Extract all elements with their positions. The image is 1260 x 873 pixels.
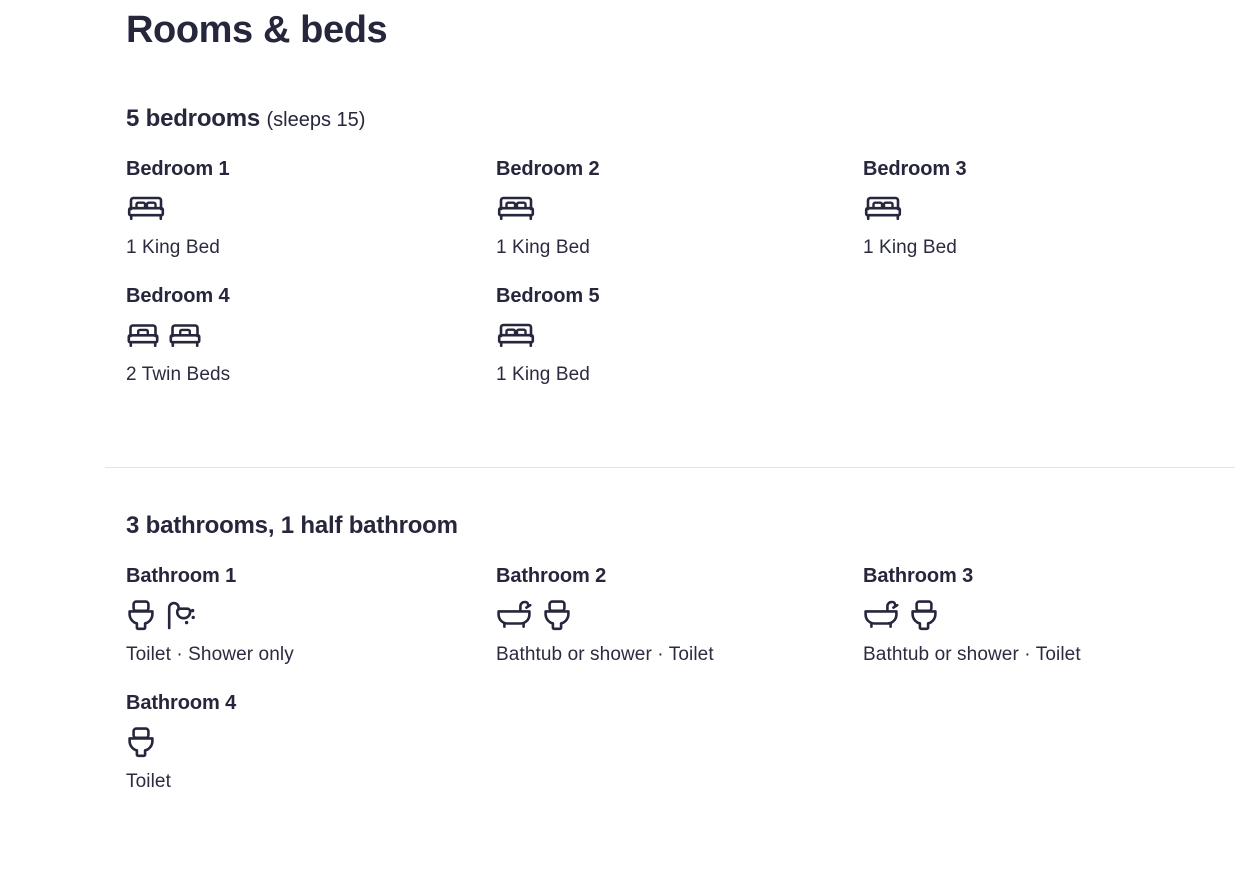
- bathroom-description: Bathtub or shower · Toilet: [496, 642, 863, 668]
- bathroom-name: Bathroom 2: [496, 563, 863, 589]
- bathtub-icon: [496, 598, 534, 632]
- page-title: Rooms & beds: [126, 8, 387, 54]
- bedroom-name: Bedroom 4: [126, 283, 496, 309]
- king-bed-icon: [126, 192, 166, 224]
- bedroom-description: 2 Twin Beds: [126, 362, 496, 388]
- room-icon-row: [496, 188, 863, 228]
- toilet-icon: [126, 725, 156, 759]
- bedrooms-heading: 5 bedrooms (sleeps 15): [126, 104, 1260, 134]
- room-icon-row: [496, 315, 863, 355]
- bedroom-name: Bedroom 3: [863, 156, 1243, 182]
- bathroom-description: Toilet: [126, 769, 496, 795]
- king-bed-icon: [863, 192, 903, 224]
- room-card: Bedroom 11 King Bed: [126, 156, 496, 271]
- bathroom-name: Bathroom 1: [126, 563, 496, 589]
- section-divider: [105, 467, 1235, 468]
- toilet-icon: [909, 598, 939, 632]
- bedrooms-section: 5 bedrooms (sleeps 15) Bedroom 11 King B…: [0, 104, 1260, 397]
- bathroom-name: Bathroom 4: [126, 690, 496, 716]
- king-bed-icon: [496, 319, 536, 351]
- bedrooms-grid: Bedroom 11 King BedBedroom 21 King BedBe…: [126, 156, 1260, 397]
- room-card: Bathroom 2Bathtub or shower · Toilet: [496, 563, 863, 678]
- room-icon-row: [126, 595, 496, 635]
- room-icon-row: [863, 595, 1243, 635]
- bedroom-description: 1 King Bed: [863, 235, 1243, 261]
- toilet-icon: [126, 598, 156, 632]
- bedrooms-heading-main: 5 bedrooms: [126, 105, 260, 132]
- room-card: Bedroom 21 King Bed: [496, 156, 863, 271]
- bedroom-name: Bedroom 1: [126, 156, 496, 182]
- room-card: Bathroom 4Toilet: [126, 690, 496, 805]
- bathrooms-section: 3 bathrooms, 1 half bathroom Bathroom 1T…: [0, 511, 1260, 804]
- bathtub-icon: [863, 598, 901, 632]
- room-card: Bathroom 3Bathtub or shower · Toilet: [863, 563, 1243, 678]
- bathrooms-heading: 3 bathrooms, 1 half bathroom: [126, 511, 1260, 541]
- room-icon-row: [126, 722, 496, 762]
- twin-bed-icon: [168, 319, 202, 351]
- bedrooms-heading-sub: (sleeps 15): [267, 109, 366, 131]
- toilet-icon: [542, 598, 572, 632]
- room-icon-row: [496, 595, 863, 635]
- bedroom-description: 1 King Bed: [496, 235, 863, 261]
- bedroom-name: Bedroom 5: [496, 283, 863, 309]
- room-card: Bathroom 1Toilet · Shower only: [126, 563, 496, 678]
- king-bed-icon: [496, 192, 536, 224]
- room-icon-row: [126, 315, 496, 355]
- bathrooms-grid: Bathroom 1Toilet · Shower onlyBathroom 2…: [126, 563, 1260, 804]
- bathrooms-heading-main: 3 bathrooms, 1 half bathroom: [126, 512, 458, 539]
- bathroom-description: Toilet · Shower only: [126, 642, 496, 668]
- room-card: Bedroom 31 King Bed: [863, 156, 1243, 271]
- room-card: Bedroom 42 Twin Beds: [126, 283, 496, 398]
- bedroom-name: Bedroom 2: [496, 156, 863, 182]
- room-icon-row: [126, 188, 496, 228]
- bedroom-description: 1 King Bed: [496, 362, 863, 388]
- rooms-and-beds-page: Rooms & beds 5 bedrooms (sleeps 15) Bedr…: [0, 0, 1260, 873]
- room-icon-row: [863, 188, 1243, 228]
- bathroom-description: Bathtub or shower · Toilet: [863, 642, 1243, 668]
- room-card: Bedroom 51 King Bed: [496, 283, 863, 398]
- bathroom-name: Bathroom 3: [863, 563, 1243, 589]
- bedroom-description: 1 King Bed: [126, 235, 496, 261]
- twin-bed-icon: [126, 319, 160, 351]
- shower-icon: [164, 598, 200, 632]
